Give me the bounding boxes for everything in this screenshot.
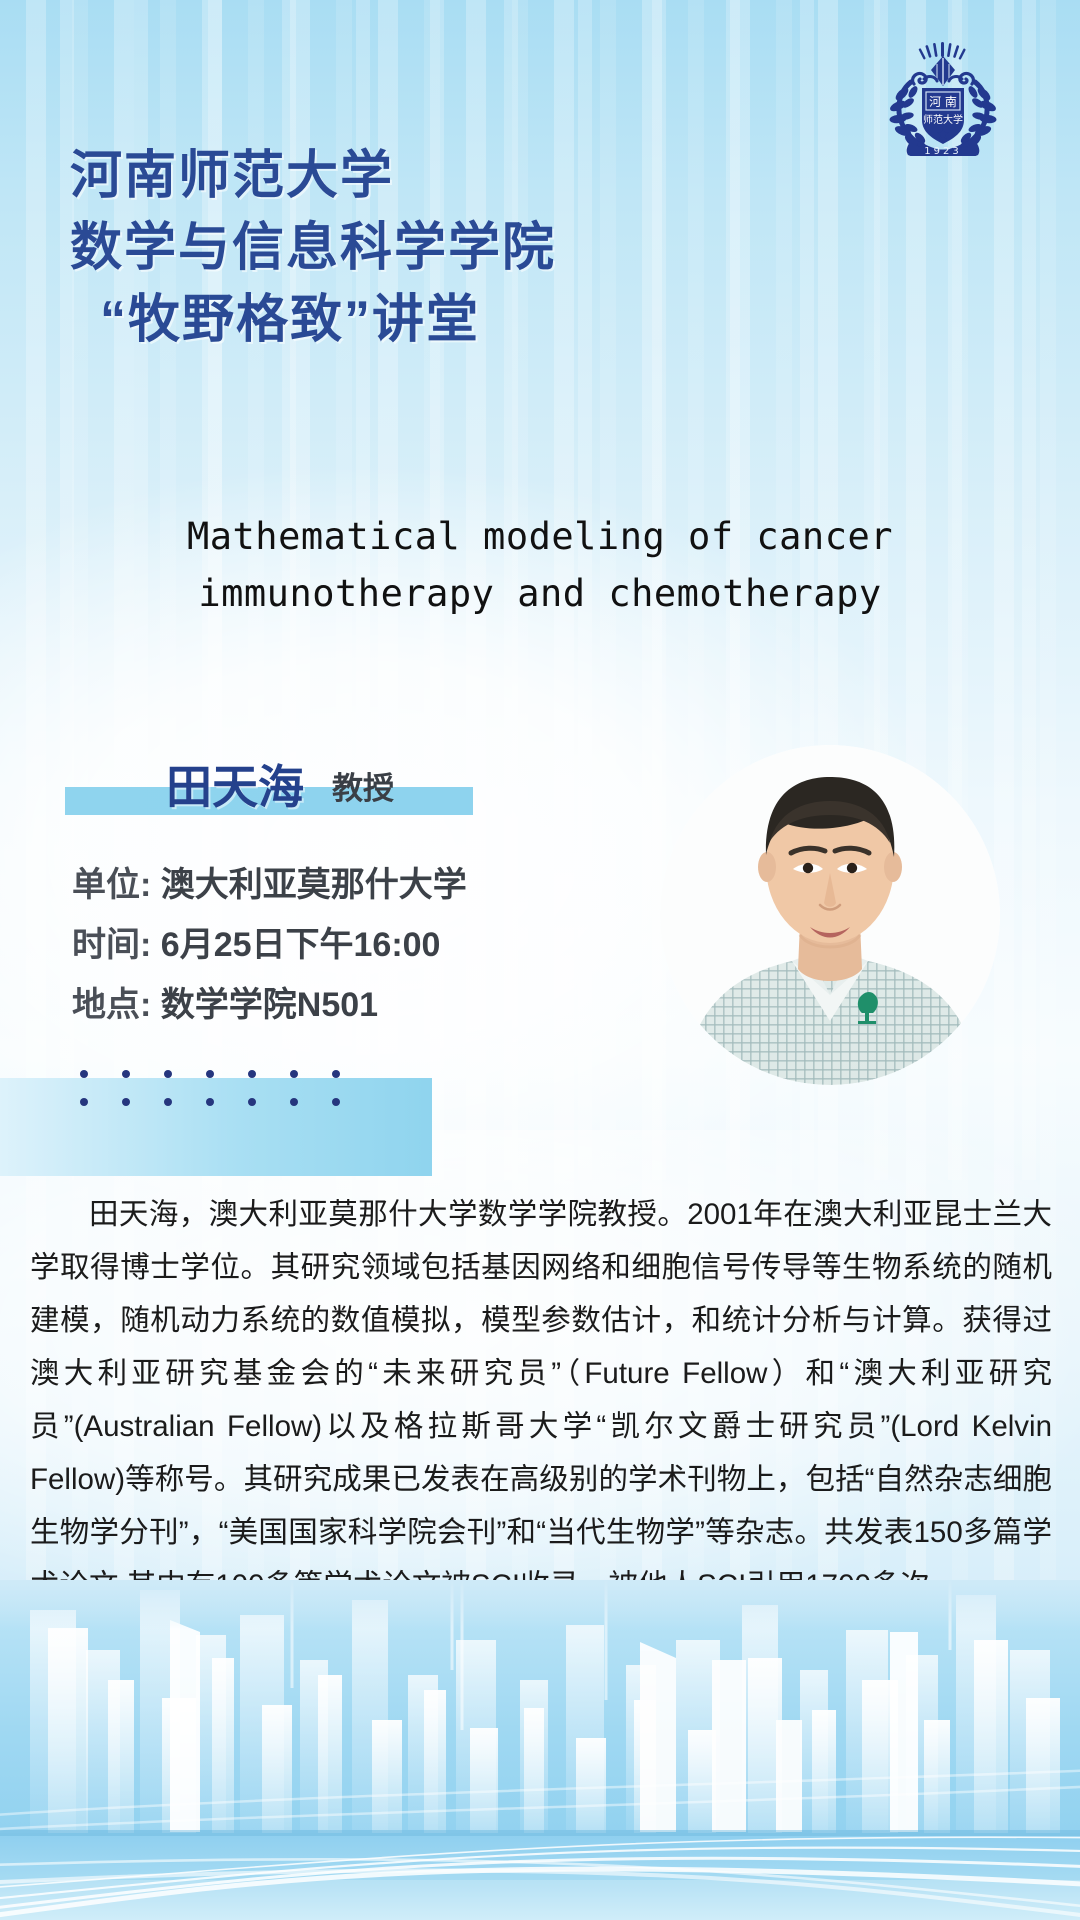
lecture-details: 单位: 澳大利亚莫那什大学 时间: 6月25日下午16:00 地点: 数学学院N…: [72, 855, 592, 1035]
detail-affiliation-label: 单位:: [72, 866, 151, 904]
dot: [80, 1098, 88, 1106]
dot-row: [80, 1088, 340, 1116]
title-line-2: 数学与信息科学学院: [0, 212, 1000, 284]
speaker-name-row: 田天海 教授: [65, 742, 495, 812]
detail-location-label: 地点:: [72, 986, 151, 1024]
university-emblem-logo: 河 南 师范大学 1923: [880, 38, 1006, 156]
dot-row: [80, 1060, 340, 1088]
dot: [80, 1070, 88, 1078]
emblem-shield-line2: 师范大学: [923, 113, 963, 126]
subtitle-line-2: immunotherapy and chemotherapy: [0, 565, 1080, 622]
speaker-rank: 教授: [332, 766, 394, 812]
subtitle-line-1: Mathematical modeling of cancer: [0, 508, 1080, 565]
dot: [248, 1098, 256, 1106]
dot: [206, 1098, 214, 1106]
lecture-subtitle: Mathematical modeling of cancer immunoth…: [0, 508, 1080, 622]
detail-time-value: 6月25日下午16:00: [161, 926, 441, 964]
speaker-name: 田天海: [166, 762, 304, 812]
dot: [332, 1098, 340, 1106]
detail-time: 时间: 6月25日下午16:00: [72, 915, 592, 975]
footer-city-graphic: [0, 1580, 1080, 1920]
dot: [290, 1070, 298, 1078]
dot: [122, 1070, 130, 1078]
title-line-1: 河南师范大学: [0, 140, 1000, 212]
dot: [290, 1098, 298, 1106]
speaker-biography: 田天海，澳大利亚莫那什大学数学学院教授。2001年在澳大利亚昆士兰大学取得博士学…: [30, 1188, 1052, 1612]
speaker-photo: [660, 745, 1000, 1085]
detail-affiliation-value: 澳大利亚莫那什大学: [161, 866, 467, 904]
emblem-shield-line1: 河 南: [929, 94, 957, 109]
dot: [248, 1070, 256, 1078]
dot: [164, 1098, 172, 1106]
poster-root: 河 南 师范大学 1923 河南师范大学 数学与信息科学学院 “牧野格致”讲堂 …: [0, 0, 1080, 1920]
title-line-3: “牧野格致”讲堂: [0, 284, 1000, 356]
detail-location: 地点: 数学学院N501: [72, 975, 592, 1035]
dot: [206, 1070, 214, 1078]
speaker-biography-text: 田天海，澳大利亚莫那什大学数学学院教授。2001年在澳大利亚昆士兰大学取得博士学…: [30, 1188, 1052, 1612]
decorative-dot-grid: [80, 1060, 340, 1116]
detail-time-label: 时间:: [72, 926, 151, 964]
dot: [332, 1070, 340, 1078]
dot: [164, 1070, 172, 1078]
detail-location-value: 数学学院N501: [161, 986, 378, 1024]
dot: [122, 1098, 130, 1106]
poster-title-block: 河南师范大学 数学与信息科学学院 “牧野格致”讲堂: [0, 140, 1000, 356]
detail-affiliation: 单位: 澳大利亚莫那什大学: [72, 855, 592, 915]
